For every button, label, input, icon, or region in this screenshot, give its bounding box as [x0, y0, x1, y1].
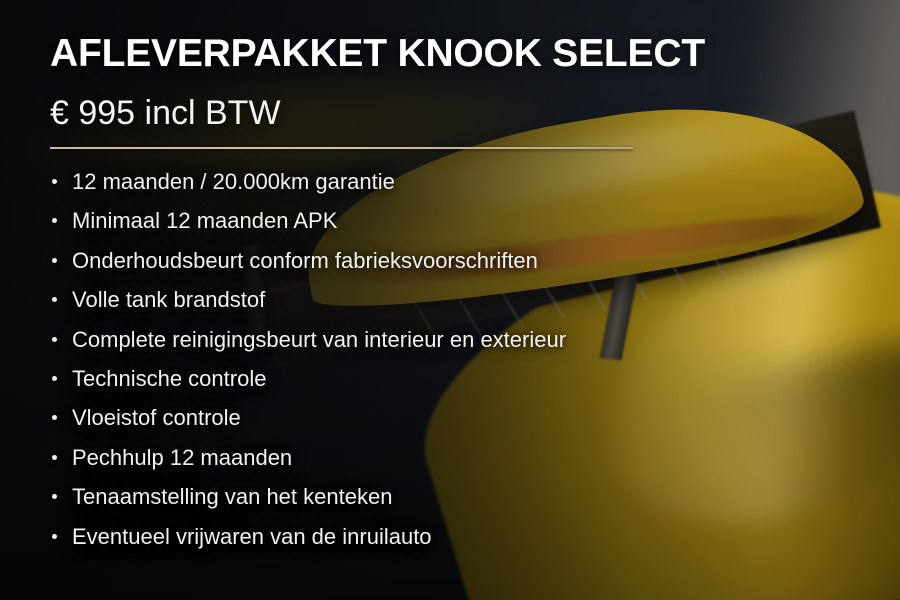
promo-banner: AFLEVERPAKKET KNOOK SELECT € 995 incl BT…: [0, 0, 900, 600]
list-item: 12 maanden / 20.000km garantie: [50, 166, 566, 205]
list-item: Eventueel vrijwaren van de inruilauto: [50, 521, 566, 560]
bullet-icon: [52, 494, 57, 499]
list-item-label: Eventueel vrijwaren van de inruilauto: [72, 524, 432, 549]
list-item-label: Tenaamstelling van het kenteken: [72, 484, 392, 509]
list-item-label: 12 maanden / 20.000km garantie: [72, 169, 395, 194]
bullet-icon: [52, 337, 57, 342]
list-item: Tenaamstelling van het kenteken: [50, 481, 566, 520]
bullet-icon: [52, 179, 57, 184]
list-item-label: Complete reinigingsbeurt van interieur e…: [72, 327, 566, 352]
bullet-icon: [52, 297, 57, 302]
bullet-icon: [52, 258, 57, 263]
list-item-label: Vloeistof controle: [72, 405, 241, 430]
price-label: € 995 incl BTW: [50, 96, 281, 130]
list-item: Pechhulp 12 maanden: [50, 442, 566, 481]
feature-list: 12 maanden / 20.000km garantie Minimaal …: [50, 166, 566, 560]
list-item: Volle tank brandstof: [50, 284, 566, 323]
list-item-label: Volle tank brandstof: [72, 287, 265, 312]
list-item: Complete reinigingsbeurt van interieur e…: [50, 324, 566, 363]
list-item-label: Onderhoudsbeurt conform fabrieksvoorschr…: [72, 248, 538, 273]
title-divider: [50, 147, 633, 149]
list-item: Onderhoudsbeurt conform fabrieksvoorschr…: [50, 245, 566, 284]
list-item-label: Pechhulp 12 maanden: [72, 445, 292, 470]
bullet-icon: [52, 455, 57, 460]
bullet-icon: [52, 415, 57, 420]
bullet-icon: [52, 376, 57, 381]
list-item: Vloeistof controle: [50, 402, 566, 441]
list-item: Minimaal 12 maanden APK: [50, 205, 566, 244]
list-item-label: Technische controle: [72, 366, 266, 391]
list-item: Technische controle: [50, 363, 566, 402]
banner-content: AFLEVERPAKKET KNOOK SELECT € 995 incl BT…: [50, 0, 850, 600]
list-item-label: Minimaal 12 maanden APK: [72, 208, 337, 233]
bullet-icon: [52, 218, 57, 223]
page-title: AFLEVERPAKKET KNOOK SELECT: [50, 34, 705, 73]
bullet-icon: [52, 534, 57, 539]
